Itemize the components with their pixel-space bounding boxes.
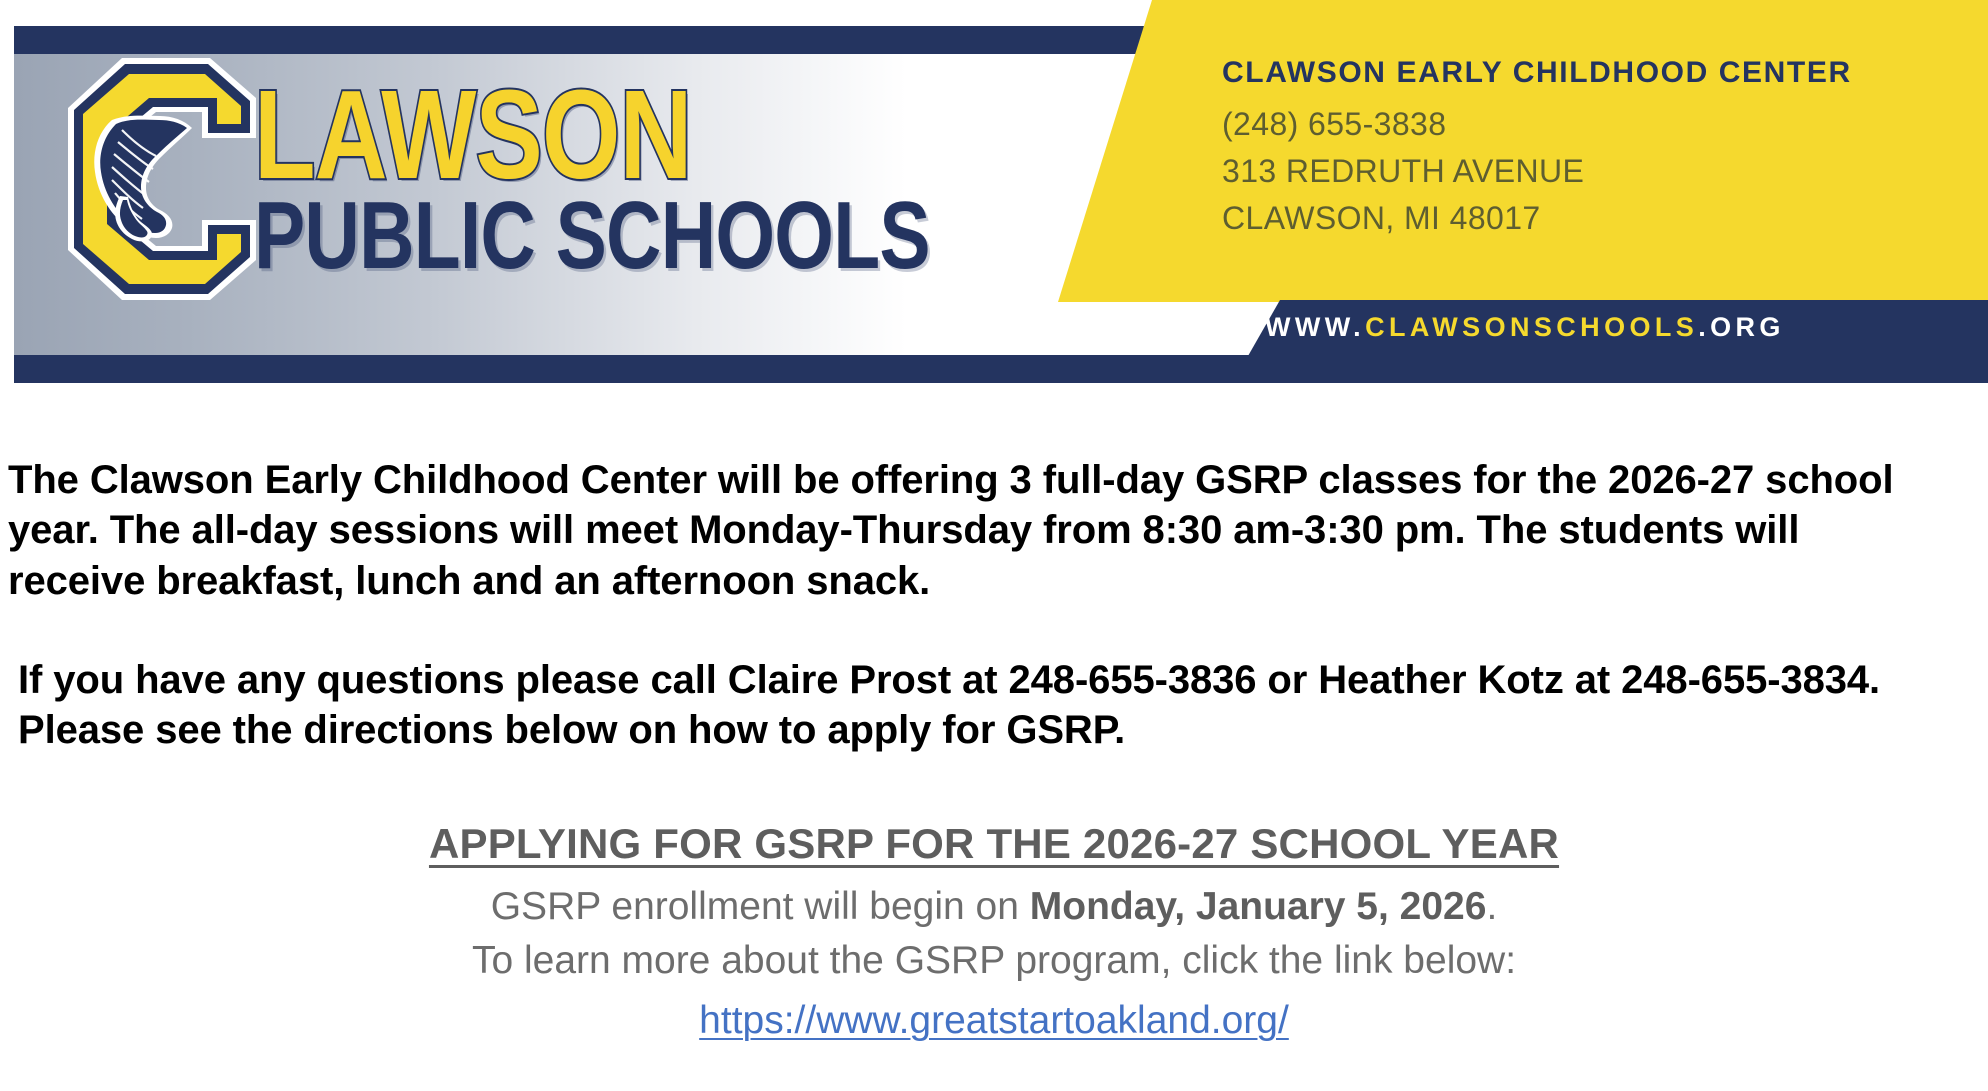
wordmark-line-2: PUBLIC SCHOOLS: [254, 192, 930, 280]
website-domain: CLAWSONSCHOOLS: [1365, 312, 1698, 342]
website-url[interactable]: WWW.CLAWSONSCHOOLS.ORG: [1265, 312, 1785, 343]
enrollment-line: GSRP enrollment will begin on Monday, Ja…: [0, 880, 1988, 934]
enrollment-date: Monday, January 5, 2026: [1030, 885, 1487, 928]
block-c-mark: [60, 54, 260, 304]
website-prefix: WWW.: [1265, 312, 1365, 342]
greatstart-oakland-link[interactable]: https://www.greatstartoakland.org/: [699, 994, 1289, 1048]
center-city-state-zip: CLAWSON, MI 48017: [1222, 200, 1962, 237]
intro-paragraph: The Clawson Early Childhood Center will …: [8, 455, 1908, 606]
learn-more-line: To learn more about the GSRP program, cl…: [0, 934, 1988, 988]
banner-bottom-navy-bar: [14, 356, 1988, 383]
center-name: CLAWSON EARLY CHILDHOOD CENTER: [1222, 56, 1962, 90]
wordmark-line-1: LAWSON: [254, 82, 930, 188]
wordmark-text: LAWSON PUBLIC SCHOOLS: [254, 78, 1099, 280]
school-banner: LAWSON PUBLIC SCHOOLS CLAWSON EARLY CHIL…: [0, 0, 1988, 390]
apply-section: APPLYING FOR GSRP FOR THE 2026-27 SCHOOL…: [0, 820, 1988, 1047]
website-tld: .ORG: [1698, 312, 1785, 342]
center-phone: (248) 655-3838: [1222, 106, 1962, 143]
clawson-public-schools-logo: LAWSON PUBLIC SCHOOLS: [60, 46, 1099, 312]
enrollment-suffix: .: [1486, 885, 1497, 928]
apply-heading: APPLYING FOR GSRP FOR THE 2026-27 SCHOOL…: [0, 820, 1988, 868]
contact-paragraph: If you have any questions please call Cl…: [18, 655, 1918, 756]
center-street: 313 REDRUTH AVENUE: [1222, 153, 1962, 190]
enrollment-prefix: GSRP enrollment will begin on: [491, 885, 1030, 928]
center-info-panel: CLAWSON EARLY CHILDHOOD CENTER (248) 655…: [1040, 0, 1988, 302]
